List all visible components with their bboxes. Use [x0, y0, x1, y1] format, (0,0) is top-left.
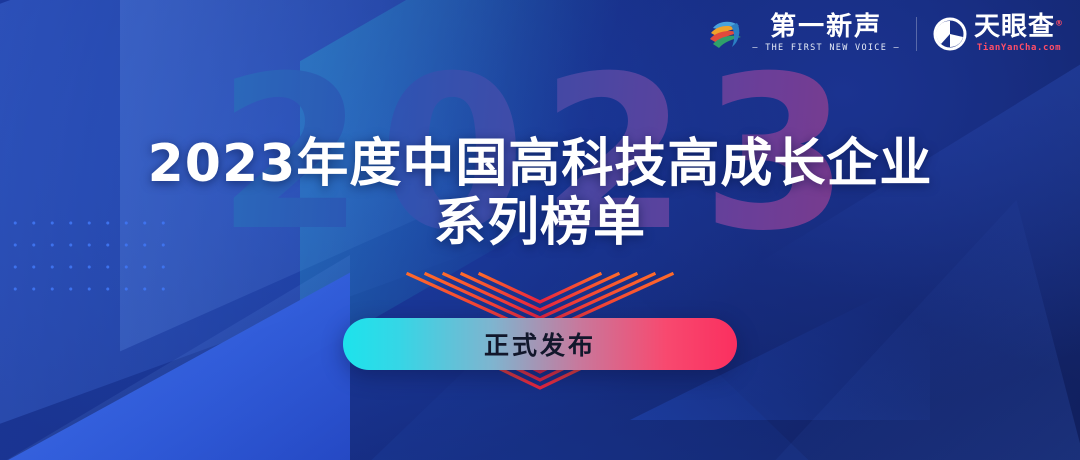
aperture-logo-icon [933, 17, 967, 51]
promo-banner: 2023 2023年度中国高科技高成 [0, 0, 1080, 460]
logo-divider [916, 17, 917, 51]
headline-line-1: 2023年度中国高科技高成长企业 [0, 136, 1080, 192]
logo-tianyancha[interactable]: 天眼查® TianYanCha.com [933, 14, 1064, 53]
headline-line-2: 系列榜单 [0, 192, 1080, 255]
logo-diyixinsheng-cn: 第一新声 [770, 14, 882, 40]
page-title: 2023年度中国高科技高成长企业 系列榜单 [0, 136, 1080, 256]
trademark-icon: ® [1055, 18, 1064, 27]
release-status-label: 正式发布 [484, 326, 596, 362]
logo-tianyancha-cn: 天眼查® [974, 14, 1064, 40]
swirl-logo-icon [707, 15, 745, 53]
logo-group: 第一新声 — THE FIRST NEW VOICE — 天眼查® TianYa… [707, 14, 1064, 53]
logo-diyixinsheng[interactable]: 第一新声 — THE FIRST NEW VOICE — [707, 14, 900, 53]
logo-diyixinsheng-en: — THE FIRST NEW VOICE — [752, 44, 900, 53]
logo-tianyancha-en: TianYanCha.com [977, 44, 1061, 53]
release-status-button[interactable]: 正式发布 [343, 318, 737, 370]
logo-tianyancha-cn-text: 天眼查 [974, 12, 1055, 42]
